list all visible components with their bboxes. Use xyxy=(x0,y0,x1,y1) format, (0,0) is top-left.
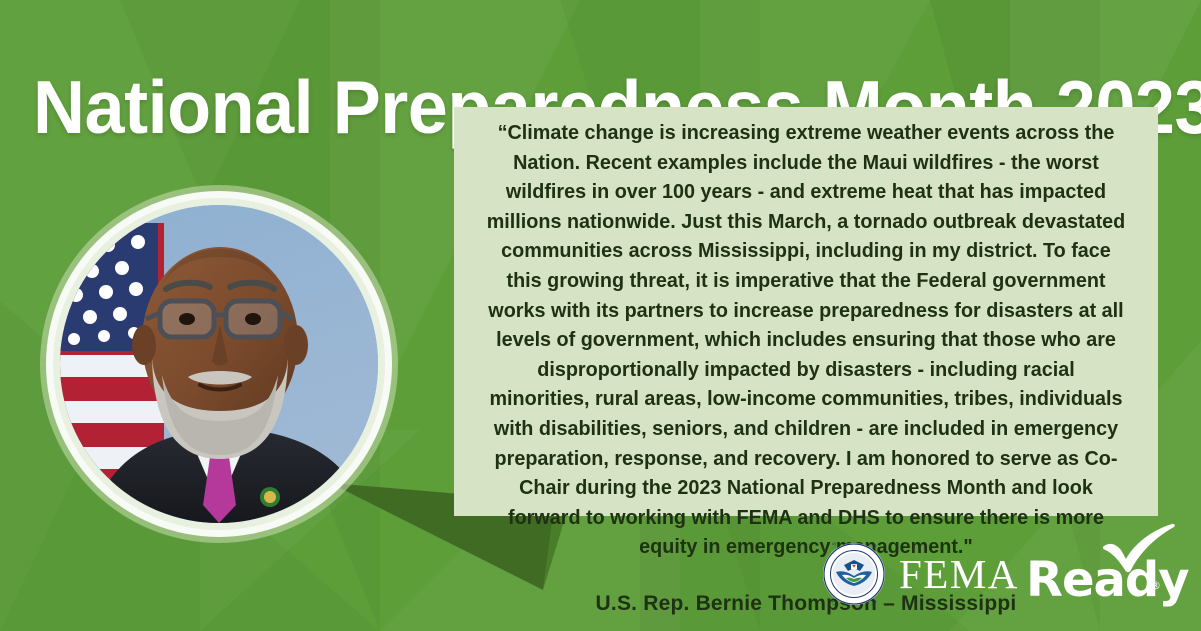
ready-logo: Ready ® xyxy=(1026,524,1176,608)
quote-text: “Climate change is increasing extreme we… xyxy=(486,119,1126,563)
dhs-seal-icon: U.S. DEPARTMENT OF HOMELAND SECURITY xyxy=(822,542,886,606)
registered-trademark-icon: ® xyxy=(1150,580,1161,591)
quote-card: “Climate change is increasing extreme we… xyxy=(454,107,1158,516)
fema-logo: U.S. DEPARTMENT OF HOMELAND SECURITY FEM… xyxy=(822,542,1019,606)
ready-wordmark: Ready xyxy=(1026,554,1189,606)
fema-wordmark: FEMA xyxy=(899,554,1019,595)
portrait-illustration xyxy=(60,205,378,523)
preparedness-month-poster: National Preparedness Month 2023 “Climat… xyxy=(0,0,1201,631)
portrait-frame xyxy=(53,198,385,530)
avatar xyxy=(60,205,378,523)
